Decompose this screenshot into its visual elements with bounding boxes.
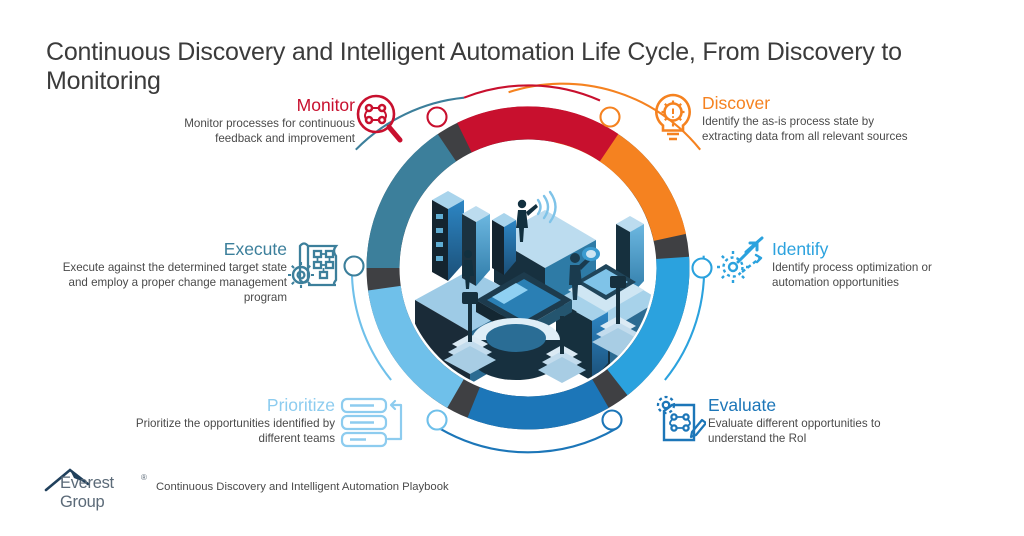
stage-monitor-label: Monitor	[170, 96, 355, 115]
stage-prioritize[interactable]: Prioritize Prioritize the opportunities …	[110, 396, 335, 446]
node-evaluate[interactable]	[603, 411, 622, 430]
node-monitor[interactable]	[428, 108, 447, 127]
stage-discover-description: Identify the as-is process state by extr…	[702, 114, 927, 144]
node-prioritize[interactable]	[428, 411, 447, 430]
stage-evaluate-label: Evaluate	[708, 396, 923, 415]
clipboard-pen-icon	[650, 392, 706, 444]
isometric-city-illustration	[402, 142, 660, 394]
infographic-canvas: Continuous Discovery and Intelligent Aut…	[0, 0, 1024, 536]
stage-execute-description: Execute against the determined target st…	[62, 260, 287, 306]
node-identify[interactable]	[693, 259, 712, 278]
stage-monitor-description: Monitor processes for continuous feedbac…	[170, 116, 355, 146]
stage-discover[interactable]: Discover Identify the as-is process stat…	[702, 94, 927, 144]
footer-text: Continuous Discovery and Intelligent Aut…	[156, 481, 449, 496]
stage-prioritize-label: Prioritize	[110, 396, 335, 415]
stage-monitor[interactable]: Monitor Monitor processes for continuous…	[170, 96, 355, 146]
brand-name: Everest Group	[60, 474, 148, 512]
reorder-list-icon	[340, 396, 406, 448]
blueprint-gear-icon	[288, 238, 346, 290]
footer: Everest Group ® Continuous Discovery and…	[44, 466, 449, 496]
stage-identify[interactable]: Identify Identify process optimization o…	[772, 240, 987, 290]
stage-execute[interactable]: Execute Execute against the determined t…	[62, 240, 287, 306]
registered-mark: ®	[141, 473, 147, 482]
stage-identify-description: Identify process optimization or automat…	[772, 260, 987, 290]
stage-identify-label: Identify	[772, 240, 987, 259]
stage-evaluate[interactable]: Evaluate Evaluate different opportunitie…	[708, 396, 923, 446]
stage-discover-label: Discover	[702, 94, 927, 113]
node-discover[interactable]	[601, 108, 620, 127]
stage-evaluate-description: Evaluate different opportunities to unde…	[708, 416, 923, 446]
stage-execute-label: Execute	[62, 240, 287, 259]
node-execute[interactable]	[345, 257, 364, 276]
magnifier-flow-icon	[354, 92, 404, 144]
gear-arrows-icon	[712, 234, 770, 286]
lightbulb-gear-icon	[650, 92, 696, 144]
everest-group-logo: Everest Group ®	[44, 466, 148, 496]
stage-prioritize-description: Prioritize the opportunities identified …	[110, 416, 335, 446]
